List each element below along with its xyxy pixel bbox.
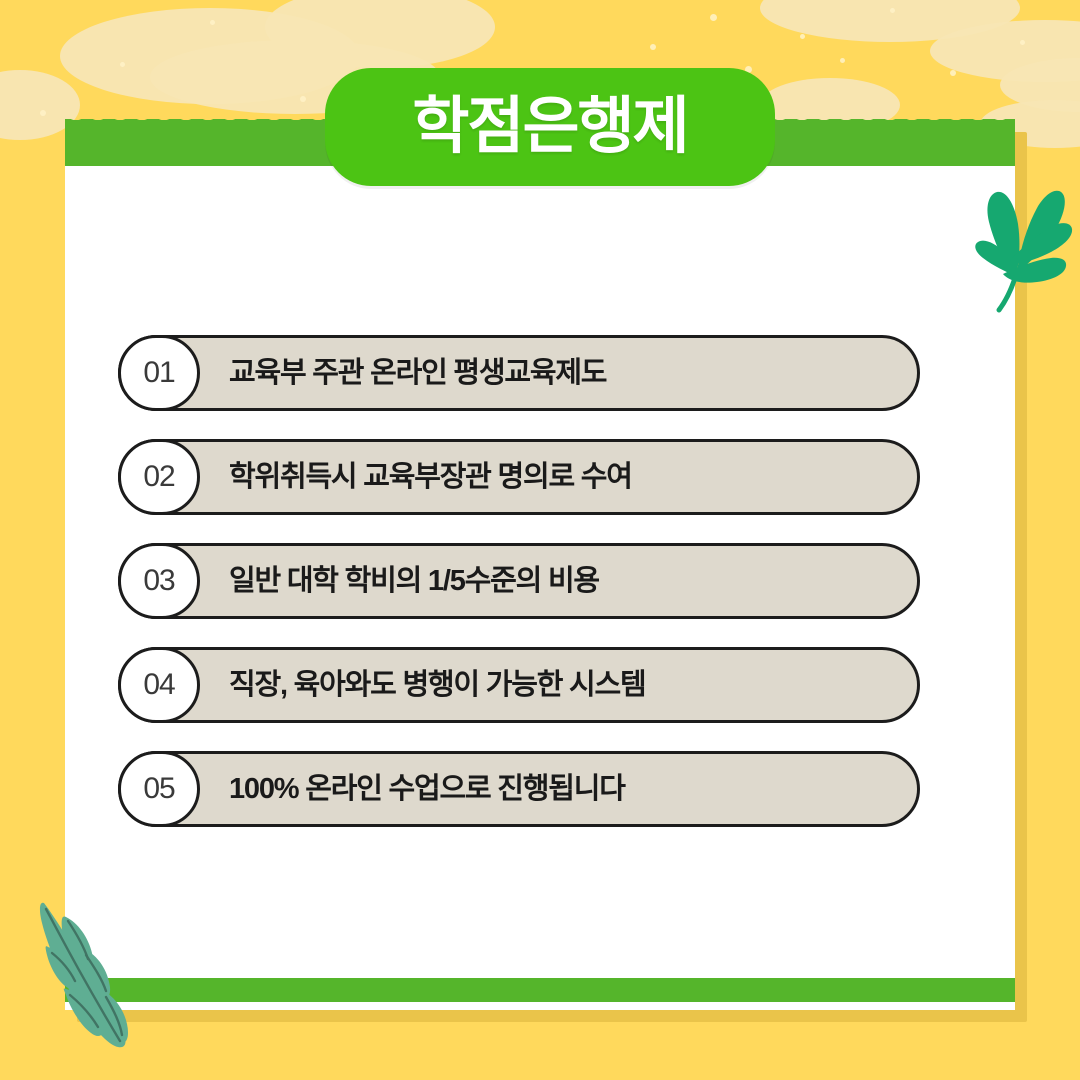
page-title: 학점은행제 — [412, 96, 687, 158]
item-number: 03 — [143, 566, 174, 596]
feature-list: 01 교육부 주관 온라인 평생교육제도 02 학위취득시 교육부장관 명의로 … — [118, 335, 920, 827]
speckle — [210, 20, 215, 25]
item-number: 02 — [143, 462, 174, 492]
speckle — [800, 34, 805, 39]
speckle — [40, 110, 46, 116]
item-number-badge: 03 — [118, 543, 200, 619]
speckle — [120, 62, 125, 67]
item-number-badge: 04 — [118, 647, 200, 723]
item-number: 04 — [143, 670, 174, 700]
item-label: 100% 온라인 수업으로 진행됩니다 — [229, 775, 625, 804]
poster: 학점은행제 — [0, 0, 1080, 1080]
speckle — [710, 14, 717, 21]
item-number: 05 — [143, 774, 174, 804]
item-label: 학위취득시 교육부장관 명의로 수여 — [229, 463, 632, 492]
item-number-badge: 05 — [118, 751, 200, 827]
speckle — [650, 44, 656, 50]
bottom-green-band — [65, 978, 1015, 1002]
fern-leaf-icon — [22, 885, 192, 1060]
title-pill: 학점은행제 — [325, 68, 775, 186]
speckle — [300, 96, 306, 102]
item-label: 교육부 주관 온라인 평생교육제도 — [229, 359, 606, 388]
item-number-badge: 02 — [118, 439, 200, 515]
item-label: 직장, 육아와도 병행이 가능한 시스템 — [229, 671, 646, 700]
speckle — [1020, 40, 1025, 45]
item-number: 01 — [143, 358, 174, 388]
item-label: 일반 대학 학비의 1/5수준의 비용 — [229, 567, 599, 596]
list-item[interactable]: 01 교육부 주관 온라인 평생교육제도 — [118, 335, 920, 411]
list-item[interactable]: 05 100% 온라인 수업으로 진행됩니다 — [118, 751, 920, 827]
list-item[interactable]: 03 일반 대학 학비의 1/5수준의 비용 — [118, 543, 920, 619]
speckle — [950, 70, 956, 76]
list-item[interactable]: 02 학위취득시 교육부장관 명의로 수여 — [118, 439, 920, 515]
speckle — [890, 8, 895, 13]
leaf-sprig-icon — [955, 160, 1075, 320]
item-number-badge: 01 — [118, 335, 200, 411]
speckle — [840, 58, 845, 63]
list-item[interactable]: 04 직장, 육아와도 병행이 가능한 시스템 — [118, 647, 920, 723]
